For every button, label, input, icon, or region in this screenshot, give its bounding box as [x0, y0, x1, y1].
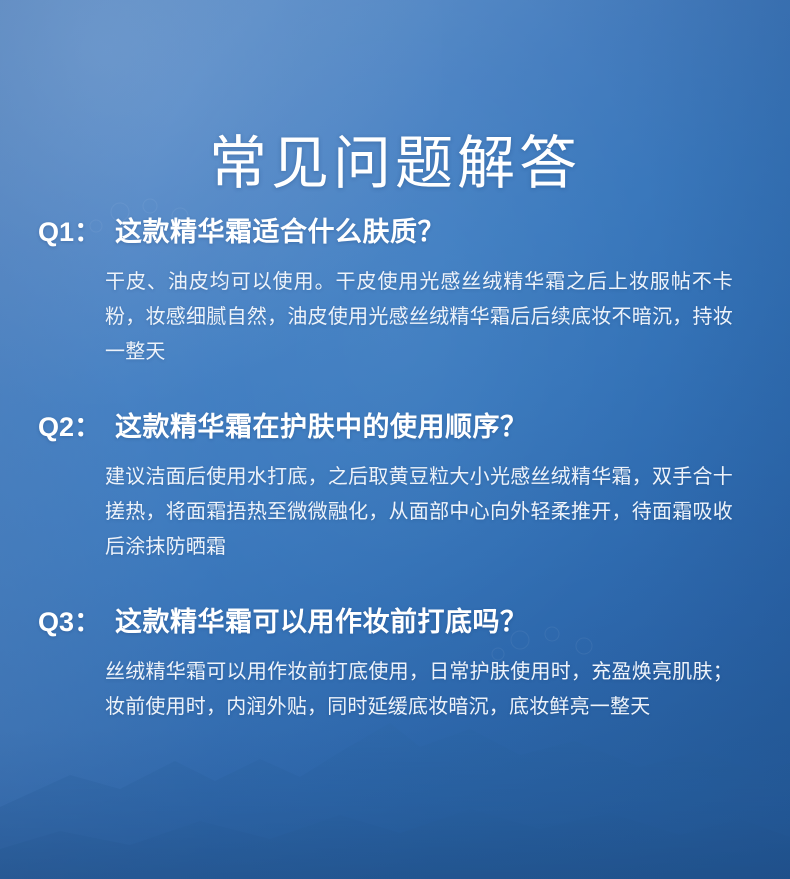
- faq-item-q1: Q1： 这款精华霜适合什么肤质？ 干皮、油皮均可以使用。干皮使用光感丝绒精华霜之…: [0, 213, 790, 370]
- page-title: 常见问题解答: [0, 127, 790, 201]
- faq-list: Q1： 这款精华霜适合什么肤质？ 干皮、油皮均可以使用。干皮使用光感丝绒精华霜之…: [0, 213, 790, 725]
- faq-question-q2: Q2： 这款精华霜在护肤中的使用顺序？: [38, 408, 790, 446]
- faq-content: 常见问题解答 Q1： 这款精华霜适合什么肤质？ 干皮、油皮均可以使用。干皮使用光…: [0, 0, 790, 879]
- faq-question-text-q2: 这款精华霜在护肤中的使用顺序？: [115, 408, 528, 446]
- faq-question-label-q1: Q1：: [38, 213, 101, 251]
- faq-question-text-q1: 这款精华霜适合什么肤质？: [115, 213, 445, 251]
- faq-question-q3: Q3： 这款精华霜可以用作妆前打底吗？: [38, 603, 790, 641]
- faq-question-q1: Q1： 这款精华霜适合什么肤质？: [38, 213, 790, 251]
- faq-question-text-q3: 这款精华霜可以用作妆前打底吗？: [115, 603, 528, 641]
- faq-question-label-q2: Q2：: [38, 408, 101, 446]
- faq-answer-q1: 干皮、油皮均可以使用。干皮使用光感丝绒精华霜之后上妆服帖不卡粉，妆感细腻自然，油…: [105, 265, 733, 370]
- faq-question-label-q3: Q3：: [38, 603, 101, 641]
- faq-item-q3: Q3： 这款精华霜可以用作妆前打底吗？ 丝绒精华霜可以用作妆前打底使用，日常护肤…: [0, 603, 790, 725]
- faq-answer-q2: 建议洁面后使用水打底，之后取黄豆粒大小光感丝绒精华霜，双手合十搓热，将面霜捂热至…: [105, 460, 733, 565]
- faq-page: 常见问题解答 Q1： 这款精华霜适合什么肤质？ 干皮、油皮均可以使用。干皮使用光…: [0, 0, 790, 879]
- faq-item-q2: Q2： 这款精华霜在护肤中的使用顺序？ 建议洁面后使用水打底，之后取黄豆粒大小光…: [0, 408, 790, 565]
- faq-answer-q3: 丝绒精华霜可以用作妆前打底使用，日常护肤使用时，充盈焕亮肌肤；妆前使用时，内润外…: [105, 655, 733, 725]
